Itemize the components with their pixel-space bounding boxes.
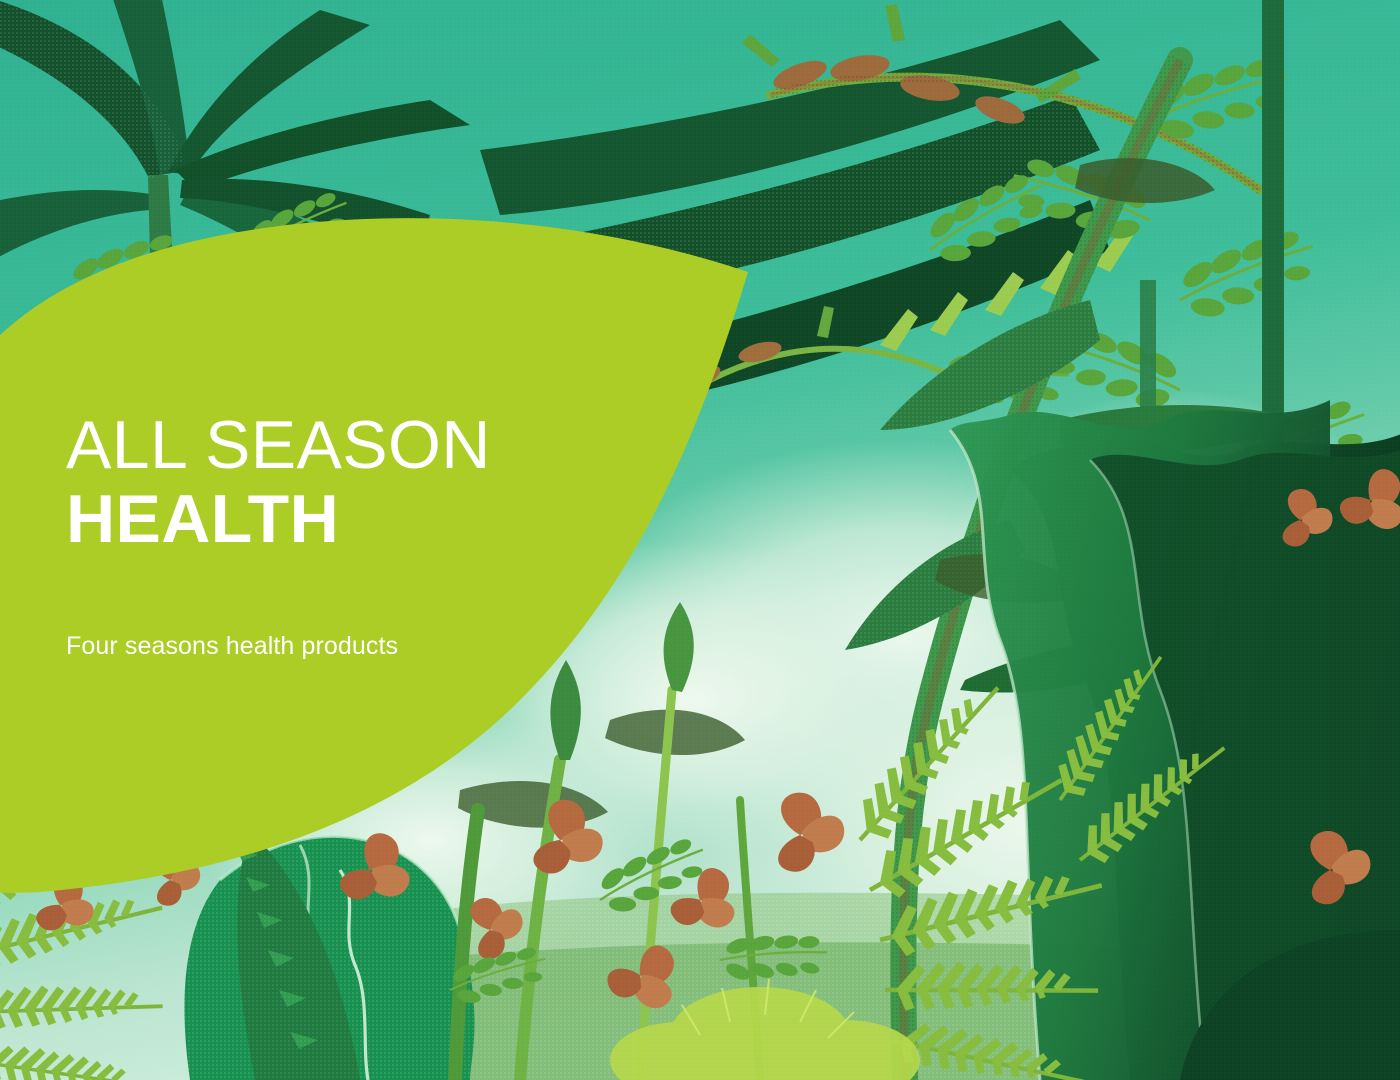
badge-copy: ALL SEASON HEALTH Four seasons health pr… xyxy=(66,408,586,661)
headline-line-2: HEALTH xyxy=(66,482,586,556)
subtitle-text: Four seasons health products xyxy=(66,556,586,661)
poster-canvas: ALL SEASON HEALTH Four seasons health pr… xyxy=(0,0,1400,1080)
headline-line-1: ALL SEASON xyxy=(66,408,586,482)
